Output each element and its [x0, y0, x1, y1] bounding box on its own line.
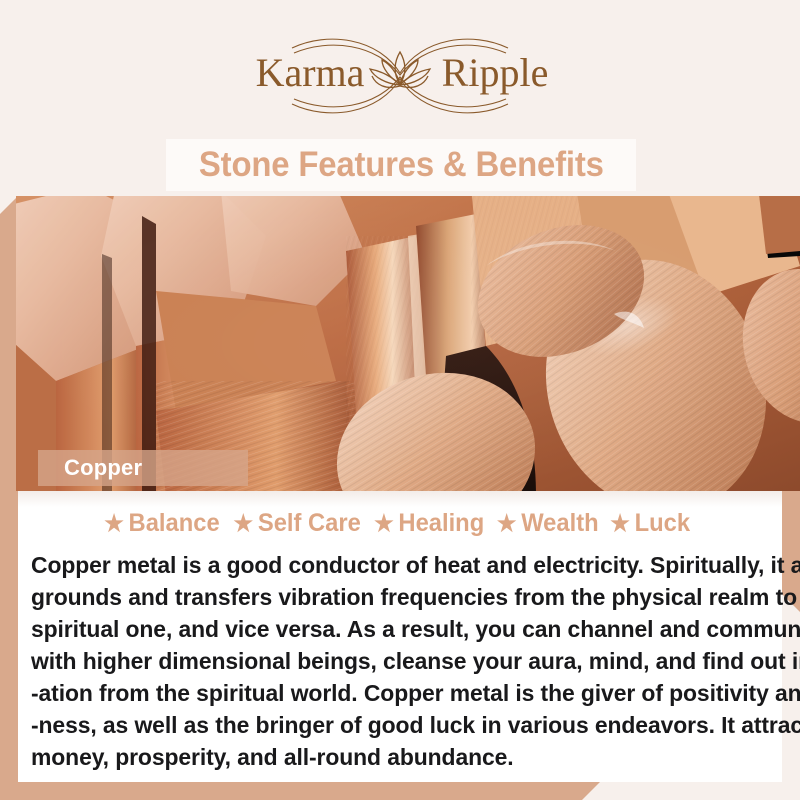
brand-name-right: Ripple: [442, 50, 549, 95]
frame-strip-bottom-left: [0, 782, 600, 800]
benefit-label: Self Care: [258, 509, 361, 538]
description-line: Copper metal is a good conductor of heat…: [31, 549, 751, 581]
description-line: -ness, as well as the bringer of good lu…: [31, 709, 751, 741]
description-line: spiritual one, and vice versa. As a resu…: [31, 613, 751, 645]
benefit-item: ★ Wealth: [497, 509, 605, 538]
hero-caption-label: Copper: [38, 455, 142, 481]
star-icon: ★: [374, 512, 394, 535]
benefit-item: ★ Healing: [374, 509, 491, 538]
benefit-label: Healing: [398, 509, 484, 538]
copper-bars-photo: [16, 196, 800, 491]
poster-canvas: Karma Ripple Stone Features & Benefits: [0, 0, 800, 800]
page-title: Stone Features & Benefits: [199, 145, 604, 185]
hero-image: [16, 196, 800, 491]
benefit-item: ★ Balance: [104, 509, 226, 538]
description-text: Copper metal is a good conductor of heat…: [31, 549, 769, 773]
brand-name-left: Karma: [256, 50, 365, 95]
content-fade-divider: [18, 491, 782, 507]
description-line: with higher dimensional beings, cleanse …: [31, 645, 751, 677]
benefit-label: Balance: [129, 509, 220, 538]
star-icon: ★: [610, 512, 630, 535]
star-icon: ★: [497, 512, 517, 535]
star-icon: ★: [233, 512, 253, 535]
benefit-label: Wealth: [521, 509, 598, 538]
description-line: grounds and transfers vibration frequenc…: [31, 581, 751, 613]
benefit-item: ★ Luck: [610, 509, 696, 538]
description-line: money, prosperity, and all-round abundan…: [31, 741, 751, 773]
section-title-band: Stone Features & Benefits: [166, 139, 636, 191]
brand-logo: Karma Ripple: [210, 28, 590, 124]
benefits-list: ★ Balance ★ Self Care ★ Healing ★ Wealth…: [18, 509, 782, 538]
benefit-item: ★ Self Care: [233, 509, 367, 538]
lotus-icon: [370, 52, 430, 87]
content-panel: ★ Balance ★ Self Care ★ Healing ★ Wealth…: [18, 491, 782, 782]
star-icon: ★: [104, 512, 124, 535]
hero-caption-bar: Copper: [38, 450, 248, 486]
benefit-label: Luck: [634, 509, 689, 538]
brand-logo-svg: Karma Ripple: [210, 28, 590, 124]
description-line: -ation from the spiritual world. Copper …: [31, 677, 751, 709]
